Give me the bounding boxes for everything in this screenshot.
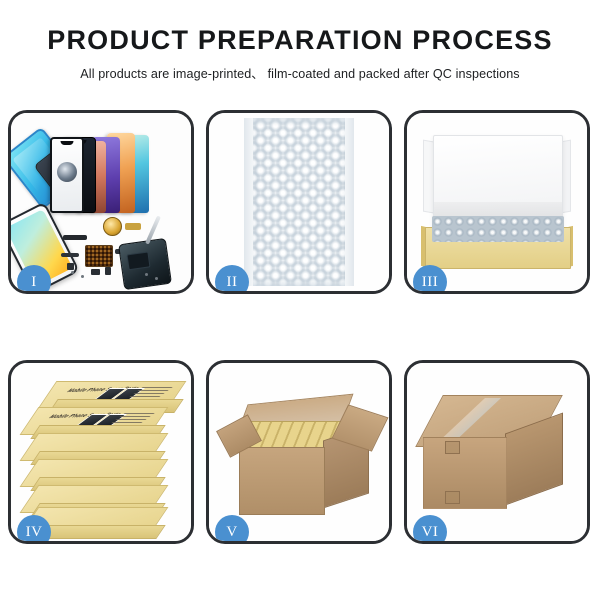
- sealed-carton: [419, 395, 575, 515]
- panel-step-4: Mobile Phone Spare Parts Mobile Phone Sp…: [8, 360, 194, 544]
- product-preparation-infographic: PRODUCT PREPARATION PROCESS All products…: [0, 0, 600, 600]
- scene-stacked-boxes: Mobile Phone Spare Parts Mobile Phone Sp…: [11, 363, 191, 541]
- scene-sealed-carton: [407, 363, 587, 541]
- scene-open-inner-box: [407, 113, 587, 291]
- box-stack: Mobile Phone Spare Parts Mobile Phone Sp…: [19, 381, 183, 531]
- bubble-wrap-sheet: [253, 118, 345, 286]
- spare-parts-cluster: [59, 219, 167, 285]
- scene-open-carton: [209, 363, 389, 541]
- step-badge-6: VI: [413, 515, 447, 544]
- scene-phone-parts: [11, 113, 191, 291]
- panel-step-2: II: [206, 110, 392, 294]
- step-badge-4: IV: [17, 515, 51, 544]
- panel-step-1: I: [8, 110, 194, 294]
- step-badge-5: V: [215, 515, 249, 544]
- panel-step-5: V: [206, 360, 392, 544]
- open-carton: [223, 391, 375, 521]
- scene-bubble-wrap: [209, 113, 389, 291]
- panel-step-3: III: [404, 110, 590, 294]
- step-badge-2: II: [215, 265, 249, 294]
- page-subtitle: All products are image-printed、 film-coa…: [0, 63, 600, 82]
- step-badge-1: I: [17, 265, 51, 294]
- panel-step-6: VI: [404, 360, 590, 544]
- step-badge-3: III: [413, 265, 447, 294]
- bubble-wrap-fill: [432, 216, 564, 242]
- process-panel-grid: I II: [8, 110, 592, 544]
- phone-screen-fan: [59, 127, 179, 213]
- inner-box: [421, 135, 573, 275]
- header: PRODUCT PREPARATION PROCESS All products…: [0, 0, 600, 82]
- page-title: PRODUCT PREPARATION PROCESS: [0, 26, 600, 54]
